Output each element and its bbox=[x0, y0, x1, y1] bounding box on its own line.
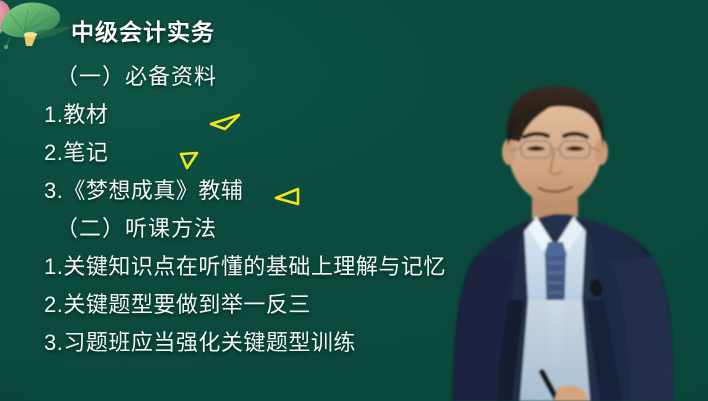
lecture-video-frame: 中级会计实务 （一）必备资料 1.教材 2.笔记 3.《梦想成真》教辅 （二）听… bbox=[0, 0, 708, 401]
presenter-video-overlay bbox=[424, 0, 708, 401]
slide-title: 中级会计实务 bbox=[71, 13, 215, 47]
slide-footer-space bbox=[0, 379, 430, 401]
